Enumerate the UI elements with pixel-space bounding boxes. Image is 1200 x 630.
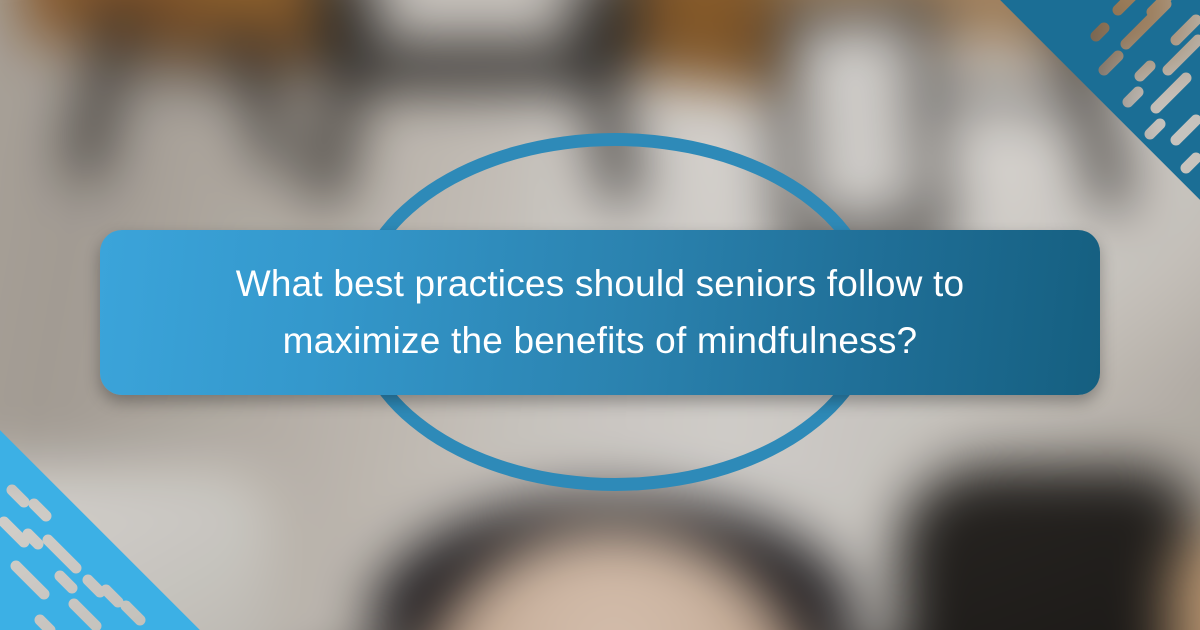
page-title: What best practices should seniors follo…	[220, 256, 980, 368]
title-banner: What best practices should seniors follo…	[100, 230, 1100, 395]
social-card: What best practices should seniors follo…	[0, 0, 1200, 630]
